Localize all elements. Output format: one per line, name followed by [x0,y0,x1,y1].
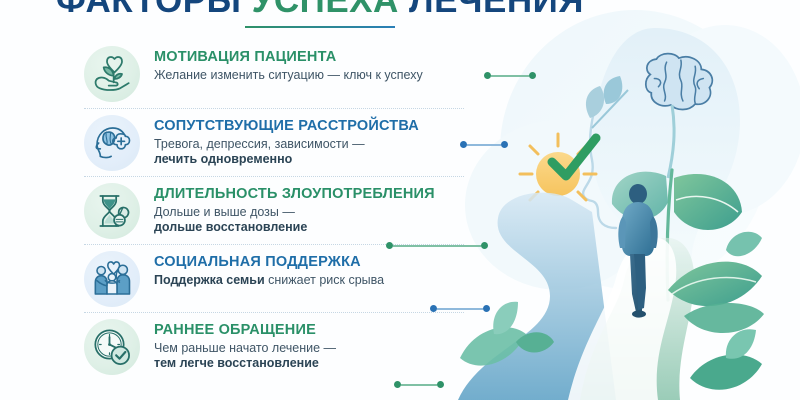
list-item-description: Чем раньше начато лечение — тем легче во… [154,341,336,370]
recovery-journey-illustration [440,0,800,400]
connector-line-5 [394,381,444,388]
connector-line-2 [460,141,508,148]
connector-line-1 [484,72,536,79]
connector-dot [484,72,491,79]
list-item-text: РАННЕЕ ОБРАЩЕНИЕ Чем раньше начато лечен… [154,318,336,370]
head-brain-plus-icon [84,115,140,171]
factors-list: МОТИВАЦИЯ ПАЦИЕНТА Желание изменить ситу… [84,40,464,380]
desc-bold-1: Поддержка семьи [154,273,265,287]
connector-bar [401,384,437,386]
connector-dot [529,72,536,79]
desc-bold-2: тем легче восстановление [154,356,319,370]
desc-plain-1: Дольше и выше дозы — [154,205,435,220]
family-heart-icon [84,251,140,307]
connector-dot [483,305,490,312]
connector-dot [430,305,437,312]
page-title: ФАКТОРЫ УСПЕХА ЛЕЧЕНИЯ [0,0,640,28]
desc-plain-1: снижает риск срыва [265,273,384,287]
connector-dot [481,242,488,249]
connector-line-4 [430,305,490,312]
list-item-heading: ДЛИТЕЛЬНОСТЬ ЗЛОУПОТРЕБЛЕНИЯ [154,186,435,202]
title-underline [245,26,395,28]
list-item-early-treatment[interactable]: РАННЕЕ ОБРАЩЕНИЕ Чем раньше начато лечен… [84,312,464,380]
list-item-text: ДЛИТЕЛЬНОСТЬ ЗЛОУПОТРЕБЛЕНИЯ Дольше и вы… [154,182,435,234]
hand-heart-plant-icon [84,46,140,102]
desc-bold-2: лечить одновременно [154,152,292,166]
list-item-description: Тревога, депрессия, зависимости — лечить… [154,137,419,166]
title-part-success: УСПЕХА [252,0,409,20]
connector-dot [437,381,444,388]
list-item-heading: РАННЕЕ ОБРАЩЕНИЕ [154,322,336,338]
title-part-treatment: ЛЕЧЕНИЯ [409,0,584,20]
desc-bold-2: дольше восстановление [154,220,307,234]
list-item-heading: СОЦИАЛЬНАЯ ПОДДЕРЖКА [154,254,384,270]
infographic-canvas: ФАКТОРЫ УСПЕХА ЛЕЧЕНИЯ МОТИВАЦИЯ ПАЦИЕНТ… [0,0,800,400]
connector-dot [386,242,393,249]
connector-dot [394,381,401,388]
clock-check-icon [84,319,140,375]
connector-line-3 [386,242,488,249]
list-item-duration[interactable]: ДЛИТЕЛЬНОСТЬ ЗЛОУПОТРЕБЛЕНИЯ Дольше и вы… [84,176,464,244]
list-item-description: Желание изменить ситуацию — ключ к успех… [154,68,423,83]
desc-plain-1: Чем раньше начато лечение — [154,341,336,356]
list-item-description: Дольше и выше дозы — дольше восстановлен… [154,205,435,234]
desc-plain-1: Тревога, депрессия, зависимости — [154,137,419,152]
list-item-description: Поддержка семьи снижает риск срыва [154,273,384,288]
connector-bar [491,75,529,77]
connector-bar [393,245,481,247]
list-item-text: СОЦИАЛЬНАЯ ПОДДЕРЖКА Поддержка семьи сни… [154,250,384,288]
hourglass-pill-icon [84,183,140,239]
connector-bar [437,308,483,310]
list-item-social-support[interactable]: СОЦИАЛЬНАЯ ПОДДЕРЖКА Поддержка семьи сни… [84,244,464,312]
connector-bar [467,144,501,146]
title-part-factors: ФАКТОРЫ [56,0,252,20]
desc-plain-1: Желание изменить ситуацию — ключ к успех… [154,68,423,82]
connector-dot [460,141,467,148]
list-item-comorbidities[interactable]: СОПУТСТВУЮЩИЕ РАССТРОЙСТВА Тревога, депр… [84,108,464,176]
list-item-text: МОТИВАЦИЯ ПАЦИЕНТА Желание изменить ситу… [154,45,423,83]
list-item-heading: СОПУТСТВУЮЩИЕ РАССТРОЙСТВА [154,118,419,134]
list-item-motivation[interactable]: МОТИВАЦИЯ ПАЦИЕНТА Желание изменить ситу… [84,40,464,108]
list-item-text: СОПУТСТВУЮЩИЕ РАССТРОЙСТВА Тревога, депр… [154,114,419,166]
connector-dot [501,141,508,148]
list-item-heading: МОТИВАЦИЯ ПАЦИЕНТА [154,49,423,65]
